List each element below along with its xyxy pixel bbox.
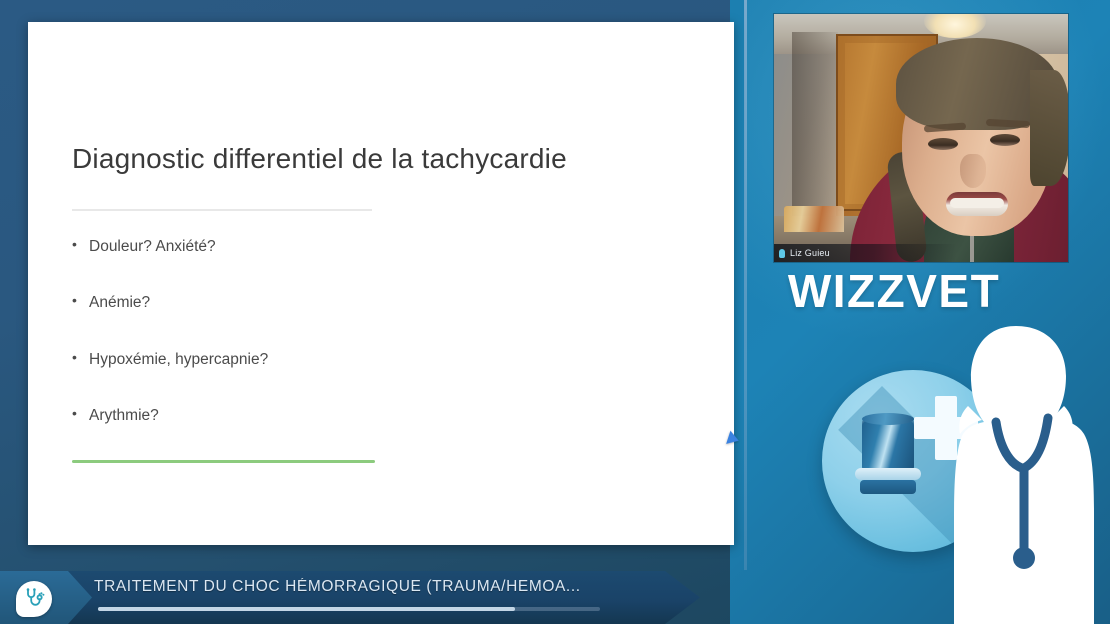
siren-base-lower [860, 480, 916, 494]
webcam-name-bar: Liz Guieu [774, 244, 1068, 262]
list-item: Douleur? Anxiété? [72, 237, 672, 256]
webinar-player: Diagnostic differentiel de la tachycardi… [0, 0, 1110, 624]
veterinarian-silhouette-icon [944, 318, 1110, 624]
brand-wordmark: WIZZVET [760, 264, 1028, 318]
participant-name: Liz Guieu [790, 248, 830, 258]
list-item: Arythmie? [72, 406, 672, 425]
webcam-countertop-items [784, 206, 844, 232]
progress-fill [98, 607, 515, 611]
siren-body [862, 418, 914, 470]
panel-divider [744, 0, 747, 570]
slide-accent-rule [72, 460, 375, 463]
presenter-eye-left [928, 138, 958, 150]
list-item: Hypoxémie, hypercapnie? [72, 350, 672, 369]
presenter-eye-right [990, 134, 1020, 146]
presenter-webcam-video[interactable]: Liz Guieu [774, 14, 1068, 262]
presenter-teeth [950, 198, 1004, 208]
siren-top [862, 413, 914, 425]
title-divider [72, 209, 372, 211]
slide-title: Diagnostic differentiel de la tachycardi… [72, 142, 692, 176]
presenter-hair-side [1030, 70, 1068, 186]
siren-base-upper [855, 468, 921, 480]
slide-bullet-list: Douleur? Anxiété? Anémie? Hypoxémie, hyp… [72, 237, 672, 463]
progress-scrubber[interactable] [98, 607, 600, 611]
presentation-slide[interactable]: Diagnostic differentiel de la tachycardi… [28, 22, 734, 545]
presenter-nose [960, 154, 986, 188]
list-item: Anémie? [72, 293, 672, 312]
microphone-icon [779, 249, 785, 258]
lecture-title: TRAITEMENT DU CHOC HÉMORRAGIQUE (TRAUMA/… [94, 578, 654, 596]
stethoscope-paw-speech-bubble-icon [16, 581, 52, 617]
